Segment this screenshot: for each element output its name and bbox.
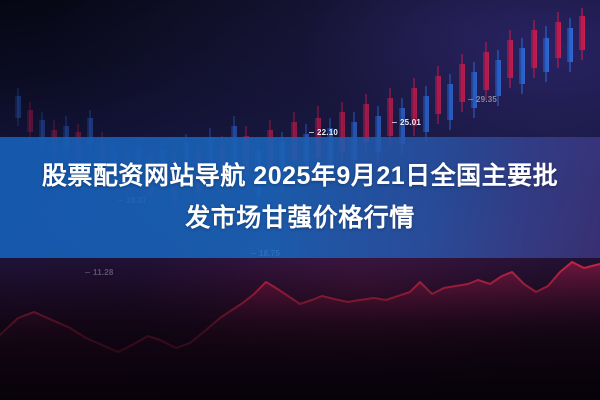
price-label-value: 25.01 xyxy=(400,118,421,127)
tick-mark-icon xyxy=(468,99,473,100)
candle-body xyxy=(531,30,537,68)
price-label: 22.10 xyxy=(309,128,338,137)
candle-body xyxy=(447,84,453,120)
price-label-value: 29.35 xyxy=(476,95,497,104)
candle-body xyxy=(387,98,393,136)
candle-body xyxy=(495,60,501,96)
candle-body xyxy=(543,38,549,72)
candle-body xyxy=(555,22,561,58)
tick-mark-icon xyxy=(85,272,90,273)
page-title-line-2: 发市场甘蔃价格行情 xyxy=(185,204,415,232)
candle-body xyxy=(483,52,489,90)
tick-mark-icon xyxy=(392,122,397,123)
price-label-value: 11.28 xyxy=(93,268,114,277)
price-label-value: 22.10 xyxy=(317,128,338,137)
candle-body xyxy=(579,16,585,50)
price-label: 11.28 xyxy=(85,268,114,277)
page-title-line-1: 股票配资网站导航 2025年9月21日全国主要批 xyxy=(42,162,558,190)
tick-mark-icon xyxy=(309,132,314,133)
candle-body xyxy=(27,110,33,132)
candle-body xyxy=(423,96,429,132)
candle-body xyxy=(507,40,513,78)
candle-body xyxy=(15,96,21,118)
candle-body xyxy=(459,64,465,102)
candle-body xyxy=(567,28,573,62)
candle-body xyxy=(519,48,525,84)
price-label: 29.35 xyxy=(468,95,497,104)
candle-body xyxy=(435,76,441,114)
banner-image: 18.0722.1025.0118.7529.3511.28 股票配资网站导航 … xyxy=(0,0,600,400)
page-title: 股票配资网站导航 2025年9月21日全国主要批 发市场甘蔃价格行情 xyxy=(0,155,600,239)
price-label: 25.01 xyxy=(392,118,421,127)
